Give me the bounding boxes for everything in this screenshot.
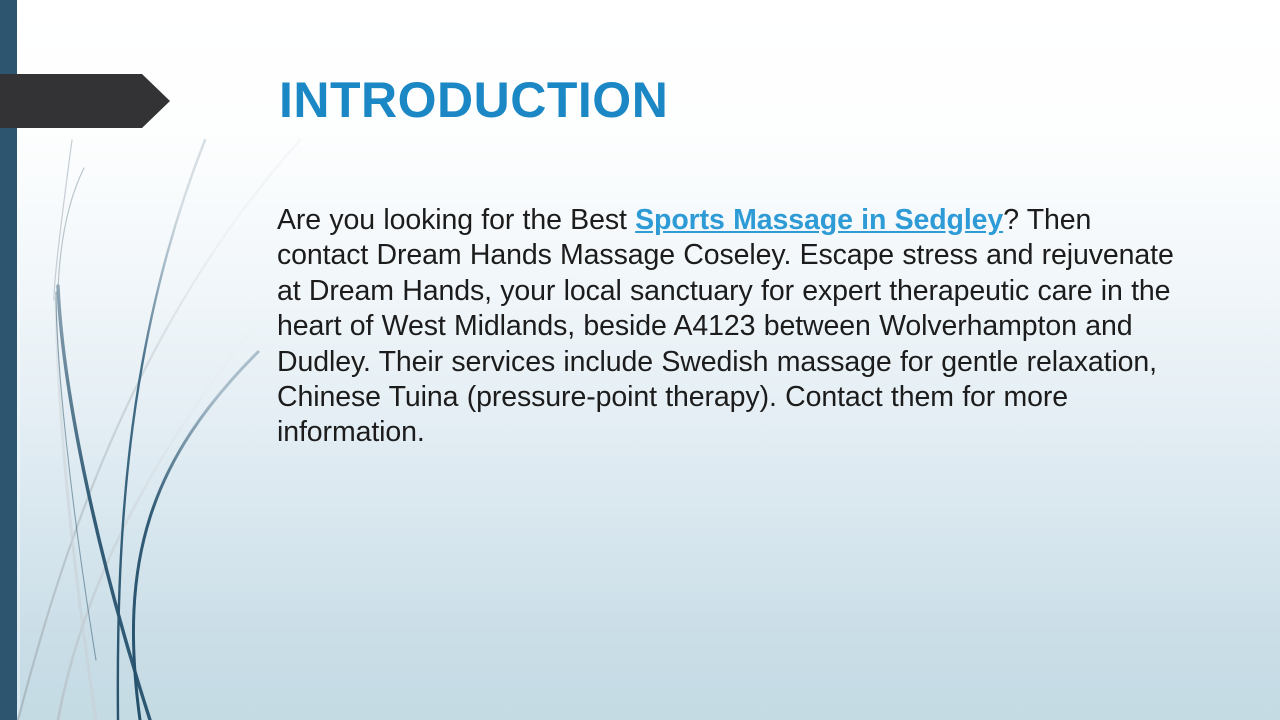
body-paragraph: Are you looking for the Best Sports Mass…	[277, 203, 1189, 451]
body-text-before-link: Are you looking for the Best	[277, 204, 635, 236]
title-arrow-banner	[0, 74, 170, 128]
body-text-after-link: ? Then contact Dream Hands Massage Cosel…	[277, 204, 1174, 448]
sports-massage-sedgley-link[interactable]: Sports Massage in Sedgley	[635, 204, 1003, 236]
page-title: INTRODUCTION	[279, 70, 668, 130]
presentation-slide: INTRODUCTION Are you looking for the Bes…	[0, 0, 1280, 720]
